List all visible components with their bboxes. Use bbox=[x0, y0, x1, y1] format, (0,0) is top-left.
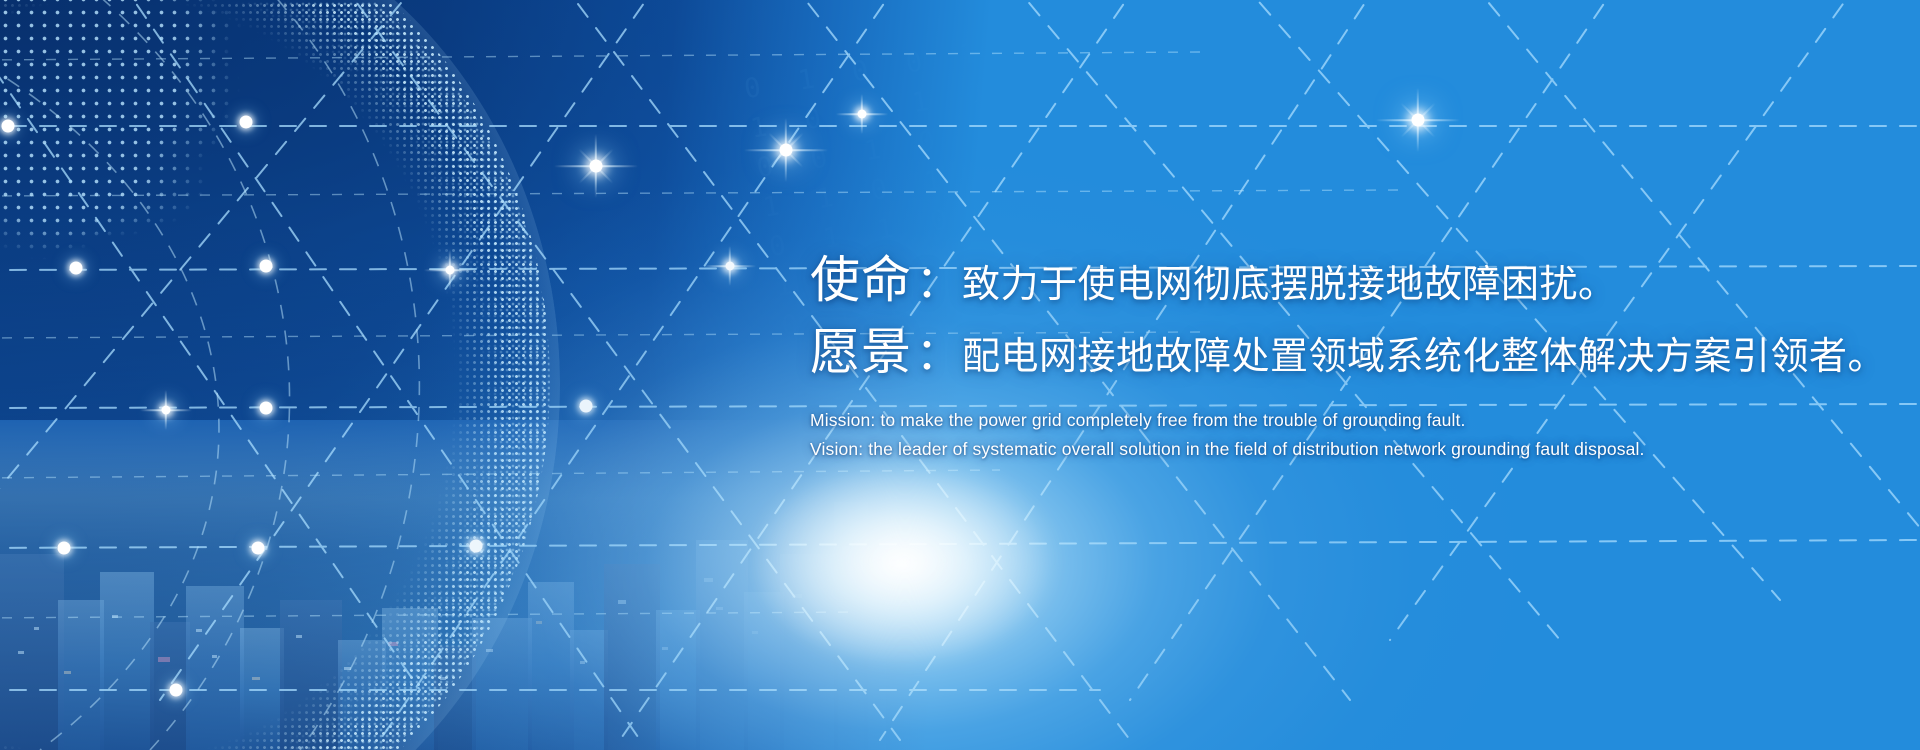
hero-banner: 0 1 0 0 1 1 0 1 0 0 1 0 1 1 0 0 1 0 0 1 … bbox=[0, 0, 1920, 750]
headline-mission-colon: ： bbox=[912, 258, 962, 307]
headline-mission-label: 使命 bbox=[810, 252, 912, 308]
hero-copy-block: 使命：致力于使电网彻底摆脱接地故障困扰。 愿景：配电网接地故障处置领域系统化整体… bbox=[810, 252, 1910, 464]
headline-mission-text: 致力于使电网彻底摆脱接地故障困扰。 bbox=[962, 264, 1617, 306]
subtitle-block: Mission: to make the power grid complete… bbox=[810, 406, 1910, 464]
headline-vision: 愿景：配电网接地故障处置领域系统化整体解决方案引领者。 bbox=[810, 324, 1910, 380]
headline-mission: 使命：致力于使电网彻底摆脱接地故障困扰。 bbox=[810, 252, 1910, 308]
headline-vision-colon: ： bbox=[912, 330, 962, 379]
headline-vision-label: 愿景 bbox=[810, 324, 912, 380]
headline-vision-text: 配电网接地故障处置领域系统化整体解决方案引领者。 bbox=[962, 336, 1886, 378]
subtitle-vision: Vision: the leader of systematic overall… bbox=[810, 435, 1910, 464]
subtitle-mission: Mission: to make the power grid complete… bbox=[810, 406, 1910, 435]
